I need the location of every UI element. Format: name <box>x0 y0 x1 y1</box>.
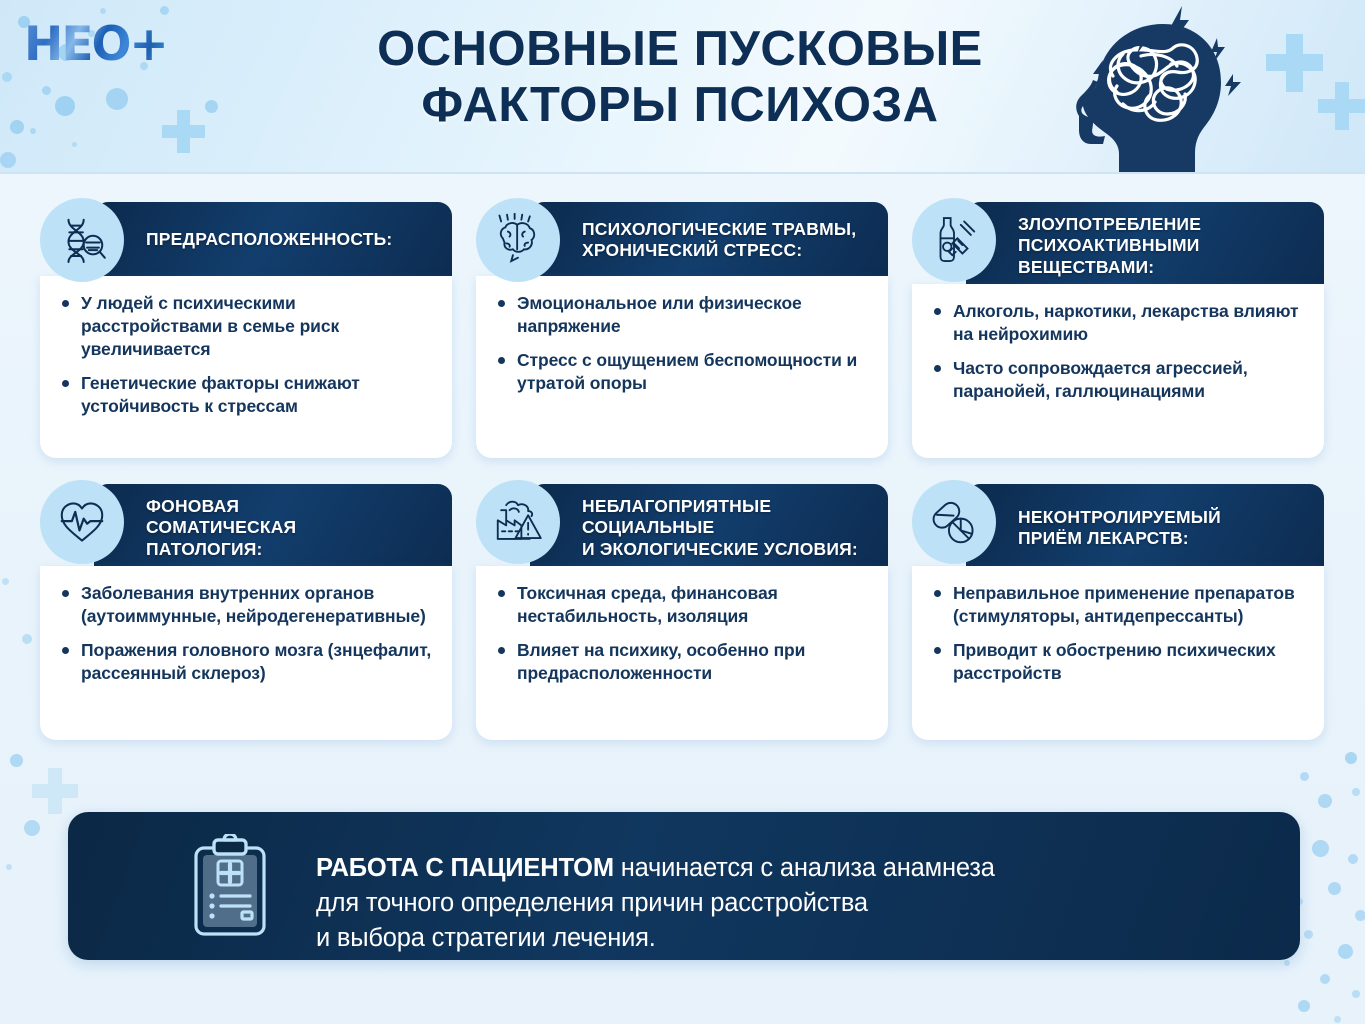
brand-logo[interactable]: НЕО+ <box>24 14 214 74</box>
pills-icon <box>912 480 996 564</box>
card-header: ПСИХОЛОГИЧЕСКИЕ ТРАВМЫ, ХРОНИЧЕСКИЙ СТРЕ… <box>530 202 888 278</box>
card-header: ЗЛОУПОТРЕБЛЕНИЕ ПСИХОАКТИВНЫМИ ВЕЩЕСТВАМ… <box>966 202 1324 290</box>
factor-card-grid: ПРЕДРАСПОЛОЖЕННОСТЬ: У людей с психическ… <box>26 196 1341 740</box>
card-title: ПРЕДРАСПОЛОЖЕННОСТЬ: <box>146 229 392 250</box>
card-body: У людей с психическими расстройствами в … <box>40 276 452 458</box>
card-body: Эмоциональное или физическое напряжение … <box>476 276 888 458</box>
card-header: ФОНОВАЯ СОМАТИЧЕСКАЯ ПАТОЛОГИЯ: <box>94 484 452 572</box>
list-item: Заболевания внутренних органов (аутоимму… <box>56 582 436 628</box>
card-body: Алкоголь, наркотики, лекарства влияют на… <box>912 284 1324 458</box>
factor-card: ПСИХОЛОГИЧЕСКИЕ ТРАВМЫ, ХРОНИЧЕСКИЙ СТРЕ… <box>462 196 888 458</box>
plus-icon <box>177 110 190 153</box>
list-item: Приводит к обострению психических расстр… <box>928 639 1308 685</box>
card-title: ПСИХОЛОГИЧЕСКИЕ ТРАВМЫ, ХРОНИЧЕСКИЙ СТРЕ… <box>582 219 856 262</box>
list-item: У людей с психическими расстройствами в … <box>56 292 436 361</box>
card-title: НЕКОНТРОЛИРУЕМЫЙ ПРИЁМ ЛЕКАРСТВ: <box>1018 507 1221 550</box>
list-item: Поражения головного мозга (знцефалит, ра… <box>56 639 436 685</box>
card-bullet-list: У людей с психическими расстройствами в … <box>56 292 436 418</box>
stressed-brain-icon <box>476 198 560 282</box>
card-header: НЕБЛАГОПРИЯТНЫЕ СОЦИАЛЬНЫЕ И ЭКОЛОГИЧЕСК… <box>530 484 888 572</box>
card-header: ПРЕДРАСПОЛОЖЕННОСТЬ: <box>94 202 452 278</box>
heart-pulse-icon <box>40 480 124 564</box>
card-title: НЕБЛАГОПРИЯТНЫЕ СОЦИАЛЬНЫЕ И ЭКОЛОГИЧЕСК… <box>582 496 858 560</box>
card-header: НЕКОНТРОЛИРУЕМЫЙ ПРИЁМ ЛЕКАРСТВ: <box>966 484 1324 572</box>
card-body: Токсичная среда, финансовая нестабильнос… <box>476 566 888 740</box>
list-item: Стресс с ощущением беспомощности и утрат… <box>492 349 872 395</box>
card-bullet-list: Эмоциональное или физическое напряжение … <box>492 292 872 395</box>
factor-card: ПРЕДРАСПОЛОЖЕННОСТЬ: У людей с психическ… <box>26 196 452 458</box>
summary-banner: РАБОТА С ПАЦИЕНТОМ начинается с анализа … <box>68 812 1300 960</box>
brand-logo-text: НЕО+ <box>24 17 167 72</box>
plus-icon <box>1335 82 1349 130</box>
card-bullet-list: Неправильное применение препаратов (стим… <box>928 582 1308 685</box>
list-item: Эмоциональное или физическое напряжение <box>492 292 872 338</box>
banner-lead: РАБОТА С ПАЦИЕНТОМ <box>316 854 614 882</box>
list-item: Влияет на психику, особенно при предрасп… <box>492 639 872 685</box>
banner-text: РАБОТА С ПАЦИЕНТОМ начинается с анализа … <box>316 816 995 957</box>
factory-warning-icon <box>476 480 560 564</box>
bottle-syringe-icon <box>912 198 996 282</box>
list-item: Генетические факторы снижают устойчивост… <box>56 372 436 418</box>
plus-icon <box>48 768 62 814</box>
list-item: Токсичная среда, финансовая нестабильнос… <box>492 582 872 628</box>
infographic-page: НЕО+ ОСНОВНЫЕ ПУСКОВЫЕ ФАКТОРЫ ПСИХОЗА <box>0 0 1365 1024</box>
card-bullet-list: Заболевания внутренних органов (аутоимму… <box>56 582 436 685</box>
head-with-tangled-thoughts-icon <box>1045 4 1275 174</box>
factor-card: НЕБЛАГОПРИЯТНЫЕ СОЦИАЛЬНЫЕ И ЭКОЛОГИЧЕСК… <box>462 478 888 740</box>
factor-card: ФОНОВАЯ СОМАТИЧЕСКАЯ ПАТОЛОГИЯ: Заболева… <box>26 478 452 740</box>
plus-icon <box>1286 34 1303 92</box>
clipboard-medical-icon <box>190 834 270 938</box>
dna-magnifier-icon <box>40 198 124 282</box>
card-body: Неправильное применение препаратов (стим… <box>912 566 1324 740</box>
card-title: ФОНОВАЯ СОМАТИЧЕСКАЯ ПАТОЛОГИЯ: <box>146 496 296 560</box>
list-item: Алкоголь, наркотики, лекарства влияют на… <box>928 300 1308 346</box>
factor-card: НЕКОНТРОЛИРУЕМЫЙ ПРИЁМ ЛЕКАРСТВ: Неправи… <box>898 478 1324 740</box>
card-title: ЗЛОУПОТРЕБЛЕНИЕ ПСИХОАКТИВНЫМИ ВЕЩЕСТВАМ… <box>1018 214 1201 278</box>
list-item: Неправильное применение препаратов (стим… <box>928 582 1308 628</box>
list-item: Часто сопровождается агрессией, паранойе… <box>928 357 1308 403</box>
header-band: НЕО+ ОСНОВНЫЕ ПУСКОВЫЕ ФАКТОРЫ ПСИХОЗА <box>0 0 1365 174</box>
card-bullet-list: Токсичная среда, финансовая нестабильнос… <box>492 582 872 685</box>
card-body: Заболевания внутренних органов (аутоимму… <box>40 566 452 740</box>
card-bullet-list: Алкоголь, наркотики, лекарства влияют на… <box>928 300 1308 403</box>
factor-card: ЗЛОУПОТРЕБЛЕНИЕ ПСИХОАКТИВНЫМИ ВЕЩЕСТВАМ… <box>898 196 1324 458</box>
page-title: ОСНОВНЫЕ ПУСКОВЫЕ ФАКТОРЫ ПСИХОЗА <box>330 22 1030 134</box>
